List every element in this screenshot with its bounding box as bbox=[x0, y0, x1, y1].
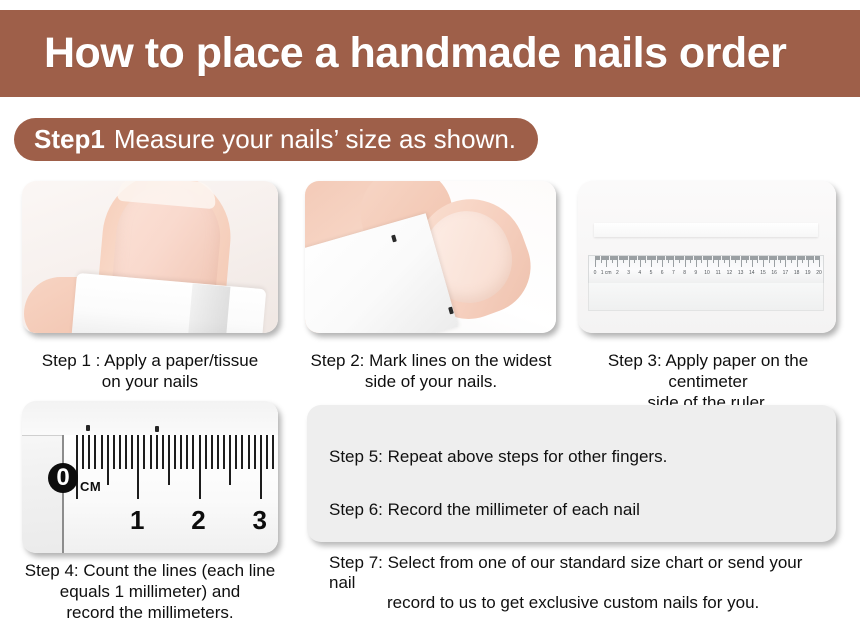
steps-5-to-7-box: Step 5: Repeat above steps for other fin… bbox=[307, 405, 836, 542]
ruler-number-label: 2 bbox=[191, 505, 205, 536]
caption-step1: Step 1 : Apply a paper/tissue on your na… bbox=[14, 350, 286, 392]
ruler-tick-mark bbox=[248, 435, 250, 469]
ruler-tick-mark bbox=[125, 435, 127, 469]
photo-panel-step3: 01 cm234567891011121314151617181920 bbox=[578, 181, 836, 333]
ruler-tick-mark bbox=[88, 435, 90, 469]
ruler-tick-mark bbox=[229, 435, 231, 485]
ruler-tick-mark bbox=[107, 435, 109, 485]
page-title: How to place a handmade nails order bbox=[44, 29, 786, 78]
long-ruler-body bbox=[588, 283, 824, 311]
ruler-tick-mark bbox=[150, 435, 152, 469]
caption-step2: Step 2: Mark lines on the widest side of… bbox=[300, 350, 562, 392]
ruler-tick-mark bbox=[94, 435, 96, 469]
ruler-tick-mark bbox=[217, 435, 219, 469]
paper-strip-shape bbox=[22, 401, 278, 436]
ruler-tick-mark bbox=[199, 435, 201, 499]
ruler-tick-mark bbox=[101, 435, 103, 469]
step7-text: Step 7: Select from one of our standard … bbox=[329, 553, 802, 592]
ruler-tick-mark bbox=[211, 435, 213, 469]
ruler-tick-mark bbox=[156, 435, 158, 469]
header-banner: How to place a handmade nails order bbox=[0, 10, 860, 97]
ruler-tick-mark bbox=[260, 435, 262, 499]
ruler-tick-mark bbox=[192, 435, 194, 469]
step7-text-continuation: record to us to get exclusive custom nai… bbox=[329, 593, 814, 613]
caption-step3: Step 3: Apply paper on the centimeter si… bbox=[572, 350, 844, 413]
ruler-tick-mark bbox=[131, 435, 133, 469]
step1-banner: Step1 Measure your nails’ size as shown. bbox=[14, 118, 538, 161]
step6-line: Step 6: Record the millimeter of each na… bbox=[329, 480, 814, 520]
photo-panel-step2 bbox=[305, 181, 556, 333]
step1-banner-strong-label: Step1 bbox=[34, 124, 105, 155]
marked-paper-strip-on-nail-photo bbox=[305, 181, 556, 333]
ruler-tick-marks bbox=[589, 256, 823, 269]
ruler-tick-mark bbox=[143, 435, 145, 469]
step7-line: Step 7: Select from one of our standard … bbox=[329, 533, 814, 633]
ruler-tick-mark bbox=[235, 435, 237, 469]
photo-panel-step1 bbox=[22, 181, 278, 333]
step5-text: Step 5: Repeat above steps for other fin… bbox=[329, 447, 667, 466]
ruler-number-labels: 01 cm234567891011121314151617181920 bbox=[589, 270, 823, 282]
paper-strip-on-ruler-photo: 01 cm234567891011121314151617181920 bbox=[578, 181, 836, 333]
step5-line: Step 5: Repeat above steps for other fin… bbox=[329, 427, 814, 467]
pencil-mark-icon bbox=[155, 426, 159, 432]
ruler-unit-label: CM bbox=[80, 479, 101, 494]
ruler-zero-label: 0 bbox=[48, 463, 78, 493]
ruler-number-label: 1 bbox=[130, 505, 144, 536]
step1-banner-rest-label: Measure your nails’ size as shown. bbox=[114, 124, 516, 155]
finger-with-paper-strip-photo bbox=[22, 181, 278, 333]
step6-text: Step 6: Record the millimeter of each na… bbox=[329, 500, 640, 519]
ruler-tick-mark bbox=[205, 435, 207, 469]
ruler-tick-mark bbox=[168, 435, 170, 485]
ruler-tick-mark bbox=[180, 435, 182, 469]
photo-panel-step4: 123 0 CM bbox=[22, 401, 278, 553]
ruler-tick-mark bbox=[76, 435, 78, 499]
ruler-tick-mark bbox=[162, 435, 164, 469]
ruler-tick-mark bbox=[82, 435, 84, 469]
ruler-tick-mark bbox=[174, 435, 176, 469]
ruler-tick-mark bbox=[186, 435, 188, 469]
ruler-tick-mark bbox=[241, 435, 243, 469]
ruler-closeup-photo: 123 0 CM bbox=[22, 401, 278, 553]
ruler-tick-mark bbox=[223, 435, 225, 469]
pencil-mark-icon bbox=[86, 425, 90, 431]
paper-strip-shadow bbox=[188, 283, 231, 333]
ruler-number-label: 3 bbox=[253, 505, 267, 536]
ruler-tick-mark bbox=[272, 435, 274, 469]
paper-strip-shape bbox=[594, 223, 818, 237]
ruler-tick-mark bbox=[119, 435, 121, 469]
ruler-tick-mark bbox=[266, 435, 268, 469]
ruler-tick-mark bbox=[137, 435, 139, 499]
closeup-ruler-scale: 123 bbox=[62, 435, 278, 553]
ruler-tick-mark bbox=[113, 435, 115, 469]
caption-step4: Step 4: Count the lines (each line equal… bbox=[14, 560, 286, 623]
ruler-tick-mark bbox=[254, 435, 256, 469]
